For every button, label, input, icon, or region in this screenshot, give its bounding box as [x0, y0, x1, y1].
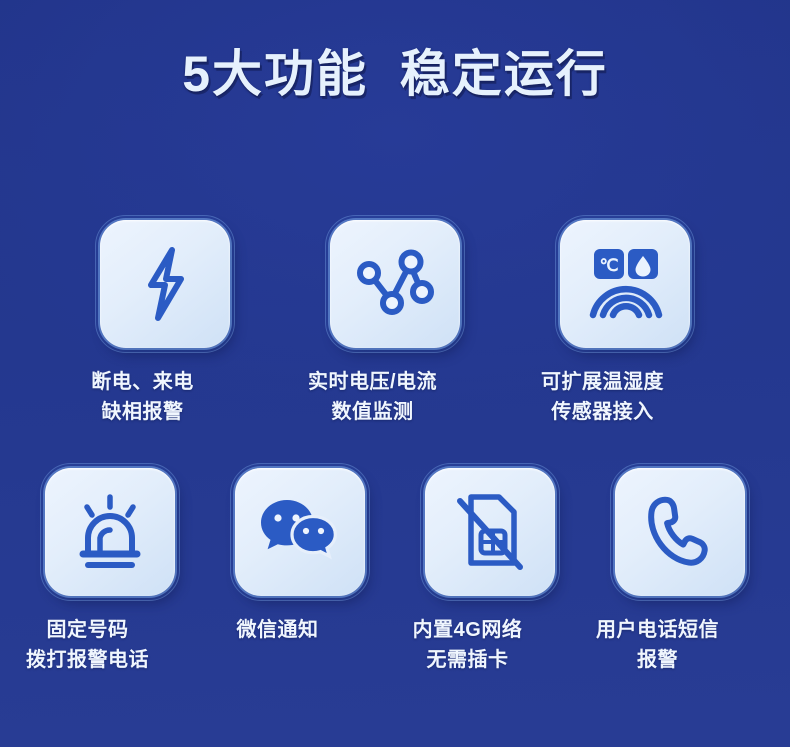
feature-icon-wrap	[45, 468, 175, 596]
feature-label-line1: 实时电压/电流	[308, 371, 437, 393]
feature-card[interactable]	[100, 220, 230, 348]
page-title: 5大功能 稳定运行	[0, 44, 790, 104]
feature-label-line1: 内置4G网络	[413, 619, 523, 641]
feature-card[interactable]	[235, 468, 365, 596]
feature-item-builtin-4g-no-sim[interactable]: 内置4G网络 无需插卡	[425, 468, 555, 675]
feature-label: 可扩展温湿度 传感器接入	[493, 367, 713, 427]
feature-card[interactable]	[330, 220, 460, 348]
feature-item-power-outage[interactable]: 断电、来电 缺相报警	[100, 220, 230, 427]
feature-row-top: 断电、来电 缺相报警	[0, 220, 790, 427]
feature-label: 用户电话短信 报警	[548, 615, 768, 675]
phone-handset-icon	[641, 493, 719, 571]
feature-label-line2: 缺相报警	[33, 397, 253, 427]
feature-row-bottom: 固定号码 拨打报警电话	[0, 468, 790, 675]
promo-feature-page: 5大功能 稳定运行 断电、来电 缺相报警	[0, 0, 790, 747]
feature-icon-wrap	[615, 468, 745, 596]
feature-label-line1: 可扩展温湿度	[541, 371, 664, 393]
lightning-bolt-icon	[133, 245, 197, 323]
wechat-icon	[259, 497, 341, 567]
no-sim-card-icon	[452, 491, 528, 573]
feature-icon-wrap: ℃	[560, 220, 690, 348]
feature-label-line2: 无需插卡	[358, 645, 578, 675]
feature-label: 实时电压/电流 数值监测	[263, 367, 483, 427]
network-nodes-icon	[356, 248, 434, 320]
feature-label-line1: 用户电话短信	[596, 619, 719, 641]
feature-label-line2: 传感器接入	[493, 397, 713, 427]
page-title-text: 5大功能 稳定运行	[182, 44, 608, 104]
feature-label: 断电、来电 缺相报警	[33, 367, 253, 427]
feature-label-line2: 报警	[548, 645, 768, 675]
feature-icon-wrap	[330, 220, 460, 348]
feature-card[interactable]	[45, 468, 175, 596]
feature-icon-wrap	[100, 220, 230, 348]
feature-icon-wrap	[235, 468, 365, 596]
feature-label-line2: 拨打报警电话	[0, 645, 198, 675]
feature-item-fixed-number-alarm-call[interactable]: 固定号码 拨打报警电话	[45, 468, 175, 675]
feature-label-line1: 固定号码	[47, 619, 129, 641]
svg-text:℃: ℃	[599, 256, 618, 275]
feature-label: 微信通知	[168, 615, 388, 645]
feature-card[interactable]	[615, 468, 745, 596]
feature-card[interactable]	[425, 468, 555, 596]
feature-label: 内置4G网络 无需插卡	[358, 615, 578, 675]
feature-item-user-phone-sms-alarm[interactable]: 用户电话短信 报警	[615, 468, 745, 675]
feature-label-line1: 断电、来电	[91, 371, 194, 393]
feature-item-temp-humidity-sensor[interactable]: ℃ 可扩展温湿度 传感器接入	[560, 220, 690, 427]
temperature-humidity-sensor-icon: ℃	[582, 247, 668, 321]
feature-card[interactable]: ℃	[560, 220, 690, 348]
feature-item-wechat-notification[interactable]: 微信通知	[235, 468, 365, 675]
feature-icon-wrap	[425, 468, 555, 596]
alarm-siren-icon	[70, 494, 150, 570]
feature-label-line2: 数值监测	[263, 397, 483, 427]
feature-item-voltage-monitoring[interactable]: 实时电压/电流 数值监测	[330, 220, 460, 427]
feature-label-line1: 微信通知	[237, 619, 319, 641]
